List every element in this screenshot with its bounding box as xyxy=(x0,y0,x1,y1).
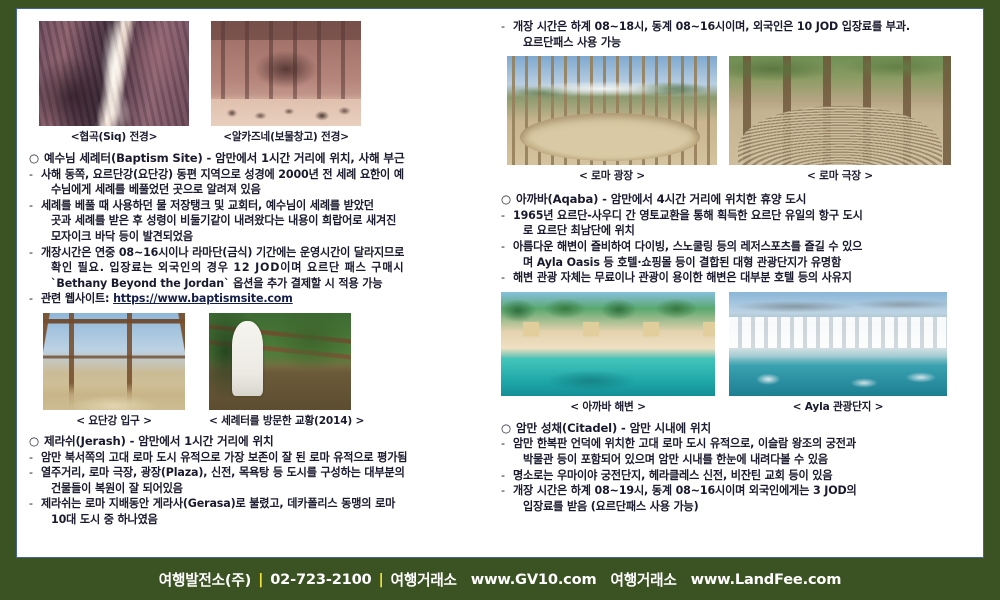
baptism-website-link[interactable]: https://www.baptismsite.com xyxy=(113,292,293,305)
roman-plaza-caption: < 로마 광장 > xyxy=(507,168,717,183)
jordan-river-entrance-photo xyxy=(43,313,185,410)
footer-separator-2: | xyxy=(379,571,384,588)
al-khazneh-picture: <알카즈네(보물창고) 전경> xyxy=(211,21,361,144)
siq-photo xyxy=(39,21,189,126)
dash-marker: - xyxy=(29,465,33,481)
baptism-item-3-line-1: 개장시간은 연중 08~16시이나 라마단(금식) 기간에는 운영시간이 달라지… xyxy=(41,246,404,259)
siq-picture: <협곡(Siq) 전경> xyxy=(39,21,189,144)
section-baptism: ○예수님 세례터(Baptism Site) - 암만에서 1시간 거리에 위치… xyxy=(25,151,483,307)
dash-marker: - xyxy=(501,208,505,224)
aqaba-heading-text: 아까바(Aqaba) - 암만에서 4시간 거리에 위치한 휴양 도시 xyxy=(516,192,806,206)
aqaba-item-2-line-1: 아름다운 해변이 즐비하여 다이빙, 스노쿨링 등의 레저스포츠를 즐길 수 있… xyxy=(513,240,862,253)
citadel-item-1-line-2: 박물관 등이 포함되어 있으며 암만 시내를 한눈에 내려다볼 수 있음 xyxy=(497,452,975,468)
citadel-item-2: - 명소로는 우마이야 궁전단지, 헤라클레스 신전, 비잔틴 교회 등이 있음 xyxy=(497,468,975,484)
jerash-hours-line-2: 요르단패스 사용 가능 xyxy=(497,35,975,51)
footer-site-2[interactable]: www.LandFee.com xyxy=(691,571,842,588)
jerash-item-3: - 제라쉬는 로마 지배동안 게라사(Gerasa)로 불렸고, 데카폴리스 동… xyxy=(25,496,483,512)
baptism-item-2-line-1: 세례를 베풀 때 사용하던 물 저장탱크 및 교회터, 예수님이 세례를 받았던 xyxy=(41,199,374,212)
baptism-item-1: - 사해 동쪽, 요르단강(요단강) 동편 지역으로 성경에 2000년 전 세… xyxy=(25,167,483,183)
dash-marker: - xyxy=(29,245,33,261)
jordan-river-entrance-picture: < 요단강 입구 > xyxy=(43,313,185,428)
roman-theatre-caption: < 로마 극장 > xyxy=(729,168,951,183)
aqaba-item-3: - 해변 관광 자체는 무료이나 관광이 용이한 해변은 대부분 호텔 등의 사… xyxy=(497,270,975,286)
footer-brand-2: 여행거래소 xyxy=(610,569,676,590)
pope-visit-picture: < 세례터를 방문한 교황(2014) > xyxy=(209,313,351,428)
roman-theatre-photo xyxy=(729,56,951,165)
baptism-heading-text: 예수님 세례터(Baptism Site) - 암만에서 1시간 거리에 위치,… xyxy=(44,151,405,165)
aqaba-picture-row: < 아까바 해변 > < Ayla 관광단지 > xyxy=(497,292,975,414)
baptism-website-label: 관련 웹사이트: xyxy=(41,292,109,305)
baptism-item-1-line-2: 수님에게 세례를 베풀었던 곳으로 알려져 있음 xyxy=(25,182,483,198)
aqaba-heading: ○아까바(Aqaba) - 암만에서 4시간 거리에 위치한 휴양 도시 xyxy=(497,192,975,208)
baptism-heading: ○예수님 세례터(Baptism Site) - 암만에서 1시간 거리에 위치… xyxy=(25,151,483,167)
ayla-resort-photo xyxy=(729,292,947,396)
footer-separator-1: | xyxy=(258,571,263,588)
siq-photo-caption: <협곡(Siq) 전경> xyxy=(39,129,189,144)
section-jerash: ○제라쉬(Jerash) - 암만에서 1시간 거리에 위치 - 암만 북서쪽의… xyxy=(25,434,483,528)
section-aqaba: ○아까바(Aqaba) - 암만에서 4시간 거리에 위치한 휴양 도시 - 1… xyxy=(497,192,975,286)
al-khazneh-photo xyxy=(211,21,361,126)
footer-site-1[interactable]: www.GV10.com xyxy=(471,571,597,588)
aqaba-beach-caption: < 아까바 해변 > xyxy=(501,399,715,414)
pope-visit-photo xyxy=(209,313,351,410)
jerash-item-3-line-1: 제라쉬는 로마 지배동안 게라사(Gerasa)로 불렸고, 데카폴리스 동맹의… xyxy=(41,497,395,510)
jerash-hours-line-1: 개장 시간은 하계 08~18시, 동계 08~16시이며, 외국인은 10 J… xyxy=(513,20,910,33)
jordan-river-entrance-caption: < 요단강 입구 > xyxy=(43,413,185,428)
two-column-layout: <협곡(Siq) 전경> <알카즈네(보물창고) 전경> ○예수님 세례터(Ba… xyxy=(17,9,983,557)
content-panel: <협곡(Siq) 전경> <알카즈네(보물창고) 전경> ○예수님 세례터(Ba… xyxy=(16,8,984,558)
aqaba-item-1-line-1: 1965년 요르단-사우디 간 영토교환을 통해 획득한 요르단 유일의 항구 … xyxy=(513,209,863,222)
slide-root: <협곡(Siq) 전경> <알카즈네(보물창고) 전경> ○예수님 세례터(Ba… xyxy=(0,0,1000,600)
dash-marker: - xyxy=(29,496,33,512)
jerash-heading-text: 제라쉬(Jerash) - 암만에서 1시간 거리에 위치 xyxy=(44,434,274,448)
bullet-circle-icon: ○ xyxy=(501,421,511,435)
pope-visit-caption: < 세례터를 방문한 교황(2014) > xyxy=(209,413,351,428)
citadel-item-1: - 암만 한복판 언덕에 위치한 고대 로마 도시 유적으로, 이슬람 왕조의 … xyxy=(497,436,975,452)
section-citadel: ○암만 성채(Citadel) - 암만 시내에 위치 - 암만 한복판 언덕에… xyxy=(497,421,975,515)
citadel-item-3-line-1: 개장 시간은 하계 08~19시, 동계 08~16시이며 외국인에게는 3 J… xyxy=(513,484,857,497)
citadel-item-3: - 개장 시간은 하계 08~19시, 동계 08~16시이며 외국인에게는 3… xyxy=(497,483,975,499)
left-column: <협곡(Siq) 전경> <알카즈네(보물창고) 전경> ○예수님 세례터(Ba… xyxy=(17,9,491,557)
petra-picture-row: <협곡(Siq) 전경> <알카즈네(보물창고) 전경> xyxy=(25,21,483,144)
jerash-item-1: - 암만 북서쪽의 고대 로마 도시 유적으로 가장 보존이 잘 된 로마 유적… xyxy=(25,450,483,466)
roman-theatre-picture: < 로마 극장 > xyxy=(729,56,951,183)
footer-phone: 02-723-2100 xyxy=(270,571,371,588)
al-khazneh-photo-caption: <알카즈네(보물창고) 전경> xyxy=(211,129,361,144)
aqaba-item-2: - 아름다운 해변이 즐비하여 다이빙, 스노쿨링 등의 레저스포츠를 즐길 수… xyxy=(497,239,975,255)
jerash-hours-item: - 개장 시간은 하계 08~18시, 동계 08~16시이며, 외국인은 10… xyxy=(497,19,975,35)
dash-marker: - xyxy=(501,483,505,499)
jerash-item-2-line-2: 건물들이 복원이 잘 되어있음 xyxy=(25,481,483,497)
jerash-picture-row: < 로마 광장 > < 로마 극장 > xyxy=(497,56,975,183)
baptism-website-item: - 관련 웹사이트: https://www.baptismsite.com xyxy=(25,291,483,307)
aqaba-item-1: - 1965년 요르단-사우디 간 영토교환을 통해 획득한 요르단 유일의 항… xyxy=(497,208,975,224)
right-column: - 개장 시간은 하계 08~18시, 동계 08~16시이며, 외국인은 10… xyxy=(491,9,983,557)
footer-brand-1: 여행거래소 xyxy=(391,569,457,590)
jerash-item-1-line-1: 암만 북서쪽의 고대 로마 도시 유적으로 가장 보존이 잘 된 로마 유적으로… xyxy=(41,451,407,464)
baptism-item-3-line-2: 확인 필요. 입장료는 외국인의 경우 12 JOD이며 요르단 패스 구매시 xyxy=(25,260,483,276)
aqaba-item-2-line-2: 며 Ayla Oasis 등 호텔·쇼핑몰 등이 결합된 대형 관광단지가 유명… xyxy=(497,255,975,271)
citadel-heading-text: 암만 성채(Citadel) - 암만 시내에 위치 xyxy=(516,421,711,435)
jerash-item-2-line-1: 열주거리, 로마 극장, 광장(Plaza), 신전, 목욕탕 등 도시를 구성… xyxy=(41,466,405,479)
dash-marker: - xyxy=(29,198,33,214)
dash-marker: - xyxy=(501,468,505,484)
bullet-circle-icon: ○ xyxy=(29,434,39,448)
dash-marker: - xyxy=(29,167,33,183)
dash-marker: - xyxy=(29,450,33,466)
dash-marker: - xyxy=(29,291,33,307)
citadel-item-3-line-2: 입장료를 받음 (요르단패스 사용 가능) xyxy=(497,499,975,515)
aqaba-beach-photo xyxy=(501,292,715,396)
footer-company: 여행발전소(주) xyxy=(159,569,251,590)
baptism-item-2: - 세례를 베풀 때 사용하던 물 저장탱크 및 교회터, 예수님이 세례를 받… xyxy=(25,198,483,214)
footer-bar: 여행발전소(주) | 02-723-2100 | 여행거래소 www.GV10.… xyxy=(0,558,1000,600)
aqaba-item-1-line-2: 로 요르단 최남단에 위치 xyxy=(497,223,975,239)
ayla-resort-caption: < Ayla 관광단지 > xyxy=(729,399,947,414)
bullet-circle-icon: ○ xyxy=(29,151,39,165)
dash-marker: - xyxy=(501,436,505,452)
dash-marker: - xyxy=(501,239,505,255)
aqaba-item-3-line-1: 해변 관광 자체는 무료이나 관광이 용이한 해변은 대부분 호텔 등의 사유지 xyxy=(513,271,852,284)
baptism-item-2-line-3: 모자이크 바닥 등이 발견되었음 xyxy=(25,229,483,245)
citadel-item-1-line-1: 암만 한복판 언덕에 위치한 고대 로마 도시 유적으로, 이슬람 왕조의 궁전… xyxy=(513,437,856,450)
baptism-picture-row: < 요단강 입구 > < 세례터를 방문한 교황(2014) > xyxy=(25,313,483,428)
baptism-item-1-line-1: 사해 동쪽, 요르단강(요단강) 동편 지역으로 성경에 2000년 전 세례 … xyxy=(41,168,404,181)
aqaba-beach-picture: < 아까바 해변 > xyxy=(501,292,715,414)
dash-marker: - xyxy=(501,19,505,35)
citadel-heading: ○암만 성채(Citadel) - 암만 시내에 위치 xyxy=(497,421,975,437)
roman-plaza-photo xyxy=(507,56,717,165)
baptism-item-3: - 개장시간은 연중 08~16시이나 라마단(금식) 기간에는 운영시간이 달… xyxy=(25,245,483,261)
jerash-item-3-line-2: 10대 도시 중 하나였음 xyxy=(25,512,483,528)
citadel-item-2-line-1: 명소로는 우마이야 궁전단지, 헤라클레스 신전, 비잔틴 교회 등이 있음 xyxy=(513,469,832,482)
jerash-hours-block: - 개장 시간은 하계 08~18시, 동계 08~16시이며, 외국인은 10… xyxy=(497,19,975,50)
ayla-resort-picture: < Ayla 관광단지 > xyxy=(729,292,947,414)
dash-marker: - xyxy=(501,270,505,286)
jerash-heading: ○제라쉬(Jerash) - 암만에서 1시간 거리에 위치 xyxy=(25,434,483,450)
jerash-item-2: - 열주거리, 로마 극장, 광장(Plaza), 신전, 목욕탕 등 도시를 … xyxy=(25,465,483,481)
bullet-circle-icon: ○ xyxy=(501,192,511,206)
baptism-item-3-line-3: `Bethany Beyond the Jordan` 옵션을 추가 결제할 시… xyxy=(25,276,483,292)
baptism-item-2-line-2: 곳과 세례를 받은 후 성령이 비둘기같이 내려왔다는 내용이 희랍어로 새겨진 xyxy=(25,213,483,229)
roman-plaza-picture: < 로마 광장 > xyxy=(507,56,717,183)
